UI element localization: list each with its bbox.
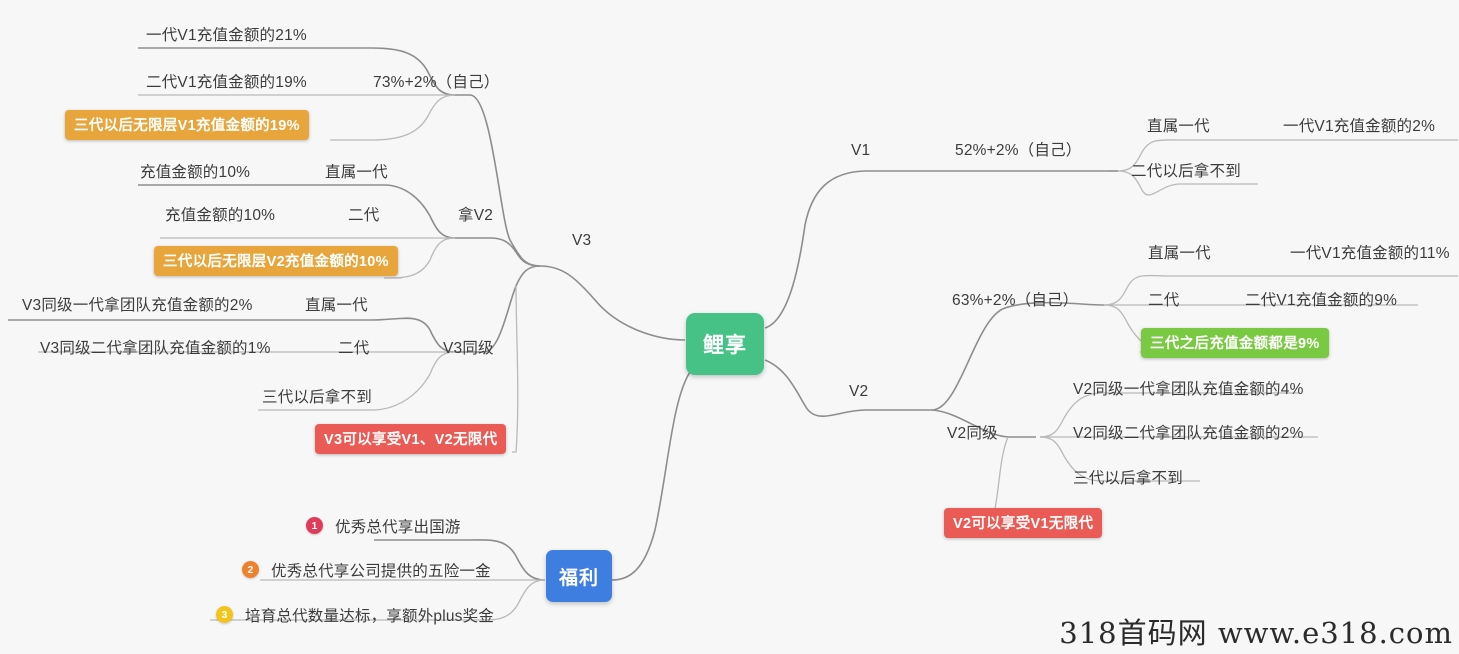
group-label-v1-self[interactable]: 52%+2%（自己） (955, 138, 1081, 160)
leaf-v3-self-2[interactable]: 二代V1充值金额的19% (146, 70, 307, 92)
branch-label-v1[interactable]: V1 (851, 142, 870, 160)
leaf-fuli-1-text: 优秀总代享出国游 (335, 519, 461, 536)
leaf-v3-takev2-1[interactable]: 直属一代 (325, 160, 388, 182)
badge-number-1: 1 (306, 517, 323, 534)
leaf-v2-self-1[interactable]: 直属一代 (1148, 241, 1211, 263)
leaf-fuli-2[interactable]: 2 优秀总代享公司提供的五险一金 (271, 559, 491, 581)
leaf-v1-self-2[interactable]: 二代以后拿不到 (1131, 159, 1241, 181)
leaf-v3-same-3[interactable]: 三代以后拿不到 (262, 385, 372, 407)
leaf-v1-self-1[interactable]: 直属一代 (1147, 114, 1210, 136)
branch-label-v3[interactable]: V3 (572, 232, 591, 250)
leaf-v3-takev2-2[interactable]: 二代 (348, 203, 379, 225)
group-label-v3-self[interactable]: 73%+2%（自己） (373, 70, 499, 92)
group-label-v3-take-v2[interactable]: 拿V2 (458, 203, 493, 225)
leaf-fuli-3-text: 培育总代数量达标，享额外plus奖金 (245, 608, 494, 625)
watermark: 318首码网 www.e318.com (1059, 610, 1453, 652)
mindmap-canvas: 鲤享 V3 73%+2%（自己） 一代V1充值金额的21% 二代V1充值金额的1… (0, 0, 1459, 654)
leaf-v2-same-3[interactable]: 三代以后拿不到 (1073, 466, 1183, 488)
leaf-v3-takev2-1-detail[interactable]: 充值金额的10% (140, 160, 250, 182)
root-node[interactable]: 鲤享 (686, 313, 764, 375)
group-label-v2-same-level[interactable]: V2同级 (947, 421, 998, 443)
branch-label-v2[interactable]: V2 (849, 383, 868, 401)
leaf-v3-same-1[interactable]: 直属一代 (305, 293, 368, 315)
leaf-fuli-1[interactable]: 1 优秀总代享出国游 (335, 515, 461, 537)
leaf-v2-self-3-tag[interactable]: 三代之后充值金额都是9% (1141, 328, 1329, 358)
group-label-v3-same-level[interactable]: V3同级 (443, 336, 494, 358)
leaf-v1-self-1-detail[interactable]: 一代V1充值金额的2% (1283, 114, 1435, 136)
note-v3-tag[interactable]: V3可以享受V1、V2无限代 (315, 424, 506, 454)
fuli-label: 福利 (559, 563, 599, 590)
leaf-fuli-3[interactable]: 3 培育总代数量达标，享额外plus奖金 (245, 604, 494, 626)
leaf-v3-takev2-2-detail[interactable]: 充值金额的10% (165, 203, 275, 225)
root-label: 鲤享 (703, 329, 747, 359)
leaf-v2-same-2[interactable]: V2同级二代拿团队充值金额的2% (1073, 421, 1304, 443)
note-v2-tag[interactable]: V2可以享受V1无限代 (944, 508, 1102, 538)
badge-number-2: 2 (242, 561, 259, 578)
group-label-v2-self[interactable]: 63%+2%（自己） (952, 288, 1078, 310)
leaf-v2-self-1-detail[interactable]: 一代V1充值金额的11% (1290, 241, 1450, 263)
leaf-v3-same-1-detail[interactable]: V3同级一代拿团队充值金额的2% (22, 293, 253, 315)
badge-number-3: 3 (216, 606, 233, 623)
leaf-fuli-2-text: 优秀总代享公司提供的五险一金 (271, 563, 491, 580)
leaf-v3-self-3-tag[interactable]: 三代以后无限层V1充值金额的19% (65, 110, 309, 140)
leaf-v3-takev2-3-tag[interactable]: 三代以后无限层V2充值金额的10% (154, 246, 398, 276)
leaf-v3-same-2-detail[interactable]: V3同级二代拿团队充值金额的1% (40, 336, 271, 358)
leaf-v3-self-1[interactable]: 一代V1充值金额的21% (146, 23, 307, 45)
leaf-v3-same-2[interactable]: 二代 (338, 336, 369, 358)
leaf-v2-self-2[interactable]: 二代 (1148, 288, 1179, 310)
leaf-v2-same-1[interactable]: V2同级一代拿团队充值金额的4% (1073, 377, 1304, 399)
leaf-v2-self-2-detail[interactable]: 二代V1充值金额的9% (1245, 288, 1397, 310)
branch-node-fuli[interactable]: 福利 (546, 550, 612, 602)
